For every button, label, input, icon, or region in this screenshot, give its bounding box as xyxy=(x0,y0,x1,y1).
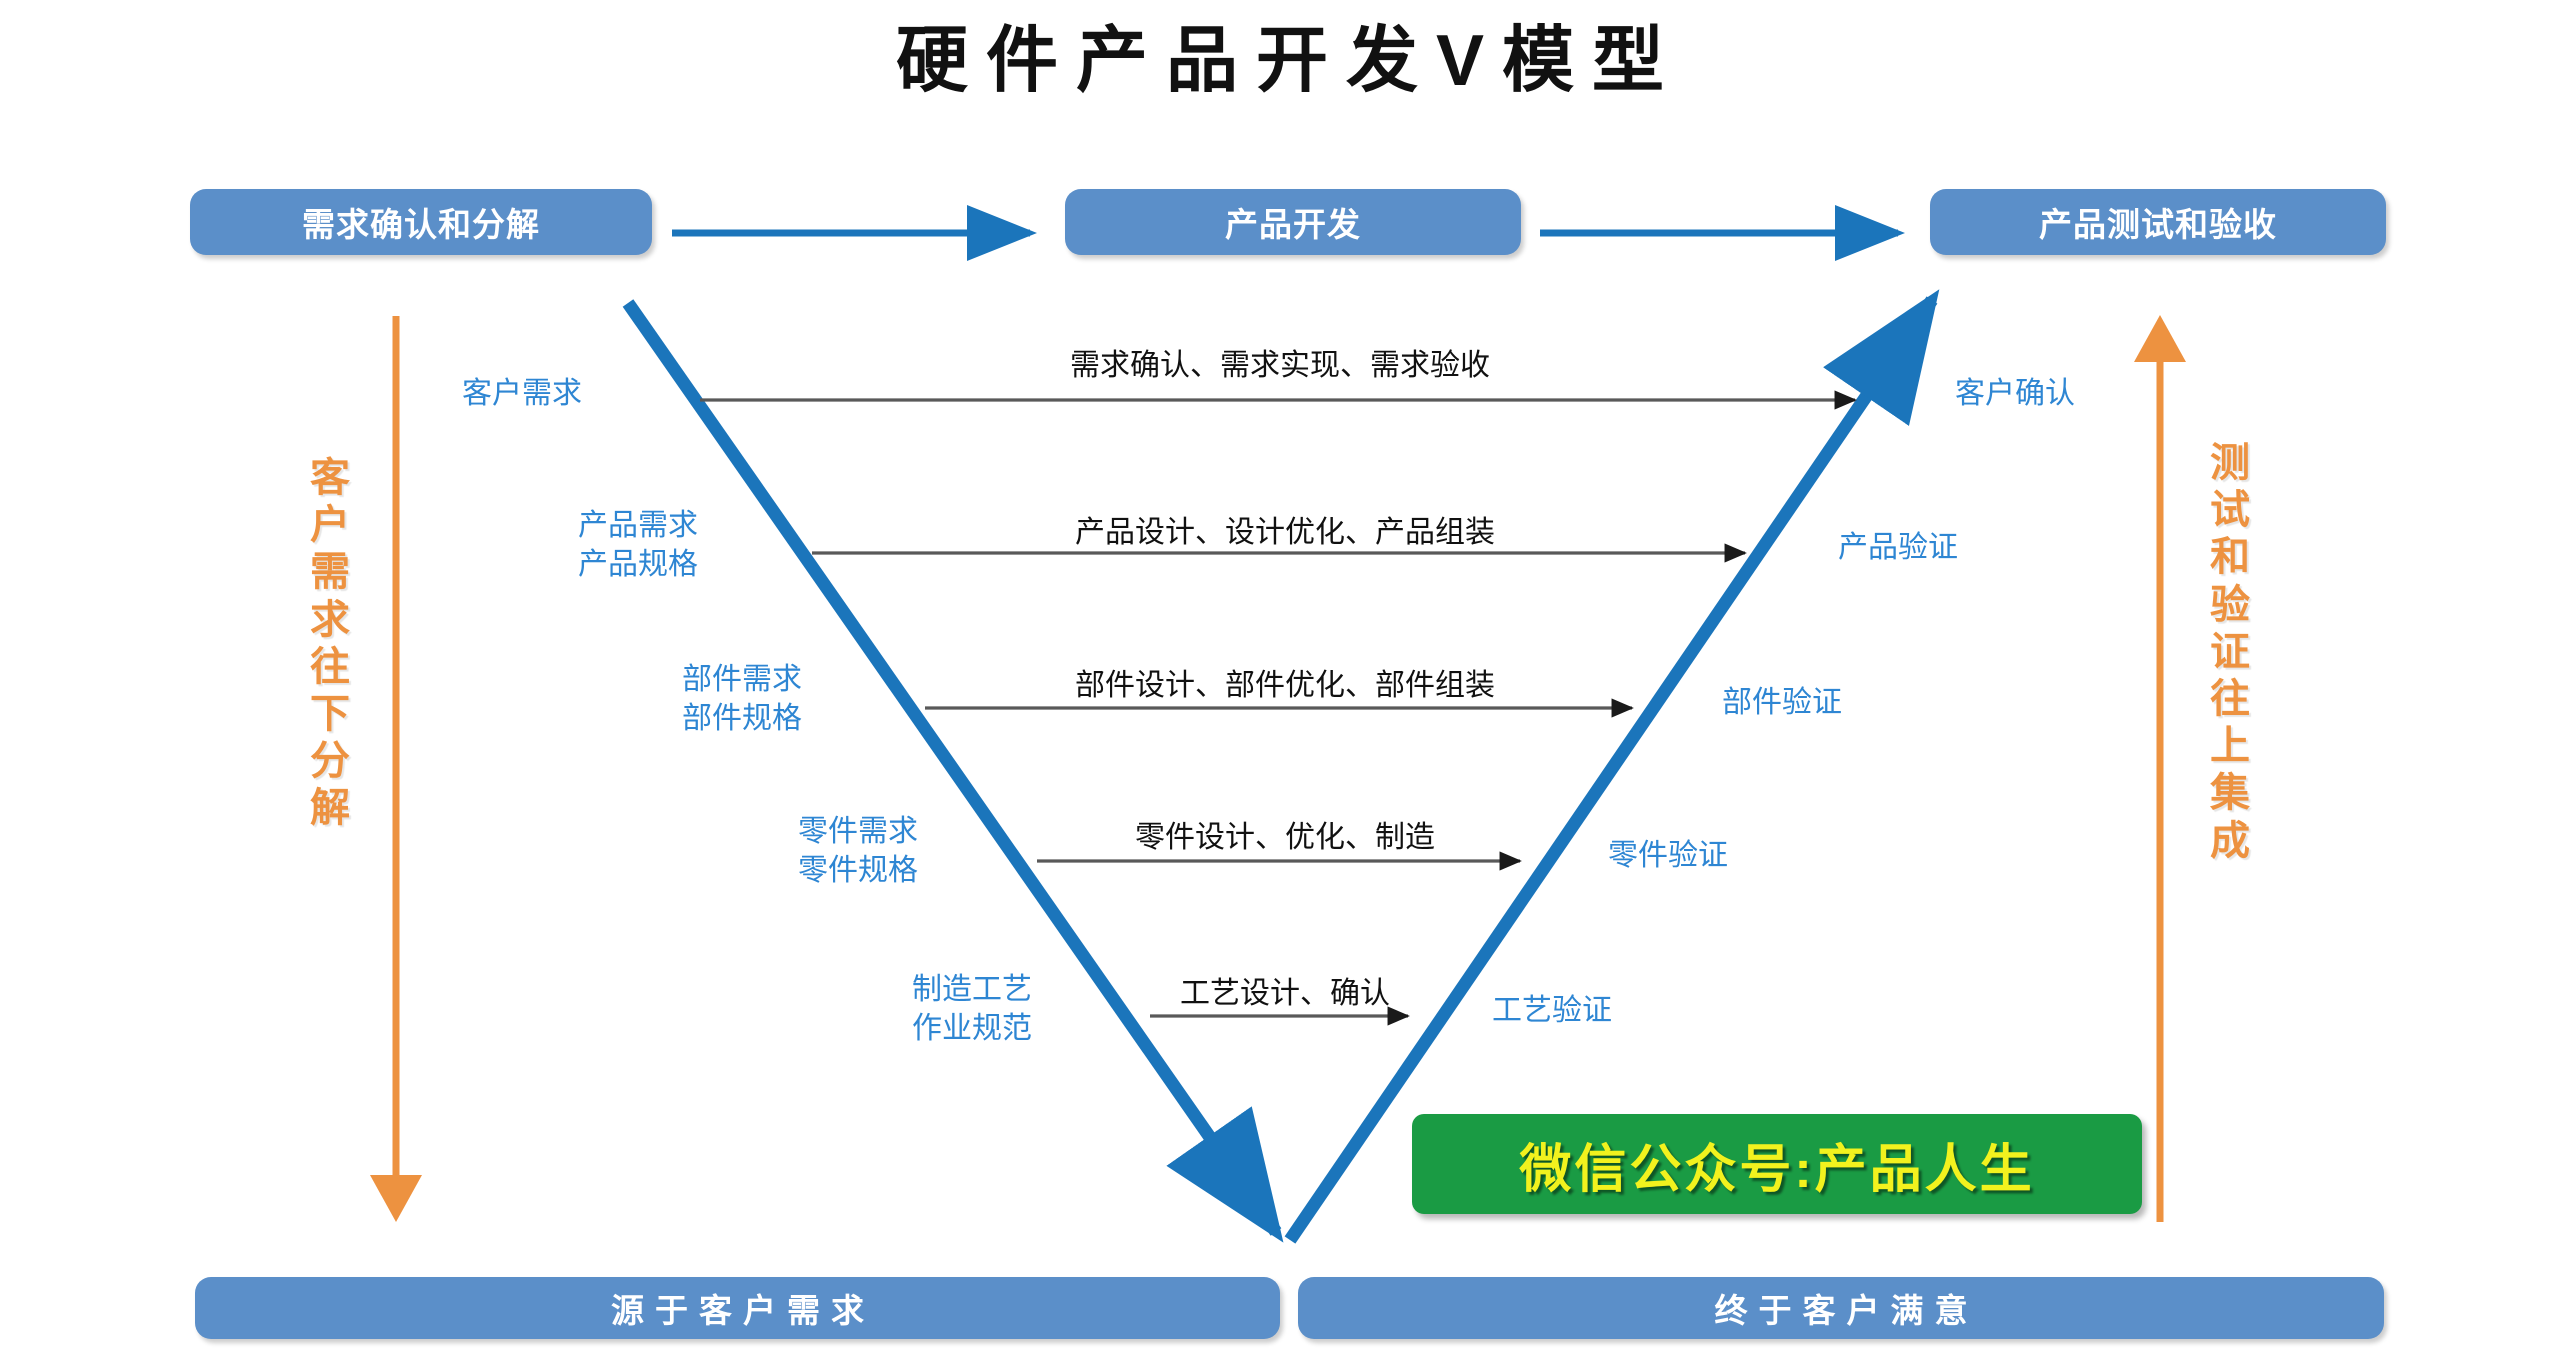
stage-left-label-4: 零件需求 零件规格 xyxy=(798,812,918,890)
stage-left-label-1: 客户需求 xyxy=(462,374,582,413)
right-flow-label: 测试和验证往上集成 xyxy=(2200,440,2260,865)
box-requirement-confirmation[interactable]: 需求确认和分解 xyxy=(190,189,652,255)
box-product-test-acceptance[interactable]: 产品测试和验收 xyxy=(1930,189,2386,255)
box-end-customer-satisfaction[interactable]: 终于客户满意 xyxy=(1298,1277,2384,1339)
stage-right-label-5: 工艺验证 xyxy=(1492,991,1612,1030)
diagram-canvas: 硬件产品开发V模型 xyxy=(0,0,2560,1367)
box-origin-customer-need[interactable]: 源于客户需求 xyxy=(195,1277,1280,1339)
left-flow-arrow-down xyxy=(370,316,422,1222)
stage-center-caption-3: 部件设计、部件优化、部件组装 xyxy=(1025,660,1545,704)
wechat-badge-text: 微信公众号:产品人生 xyxy=(1519,1127,2034,1202)
v-descending-stroke xyxy=(628,303,1276,1232)
stage-right-label-1: 客户确认 xyxy=(1955,374,2075,413)
stage-right-label-4: 零件验证 xyxy=(1608,836,1728,875)
stage-right-label-2: 产品验证 xyxy=(1838,528,1958,567)
stage-left-label-5: 制造工艺 作业规范 xyxy=(912,970,1032,1048)
stage-center-caption-4: 零件设计、优化、制造 xyxy=(1060,812,1510,856)
stage-center-caption-5: 工艺设计、确认 xyxy=(1100,968,1470,1012)
stage-left-label-2: 产品需求 产品规格 xyxy=(578,506,698,584)
left-flow-label: 客户需求往下分解 xyxy=(300,455,360,833)
stage-center-caption-2: 产品设计、设计优化、产品组装 xyxy=(1025,507,1545,551)
stage-center-caption-1: 需求确认、需求实现、需求验收 xyxy=(1020,340,1540,384)
v-ascending-stroke xyxy=(1290,300,1932,1240)
stage-right-label-3: 部件验证 xyxy=(1722,683,1842,722)
wechat-badge: 微信公众号:产品人生 xyxy=(1412,1114,2142,1214)
stage-left-label-3: 部件需求 部件规格 xyxy=(682,660,802,738)
box-product-development[interactable]: 产品开发 xyxy=(1065,189,1521,255)
right-flow-arrow-up xyxy=(2134,315,2186,1222)
